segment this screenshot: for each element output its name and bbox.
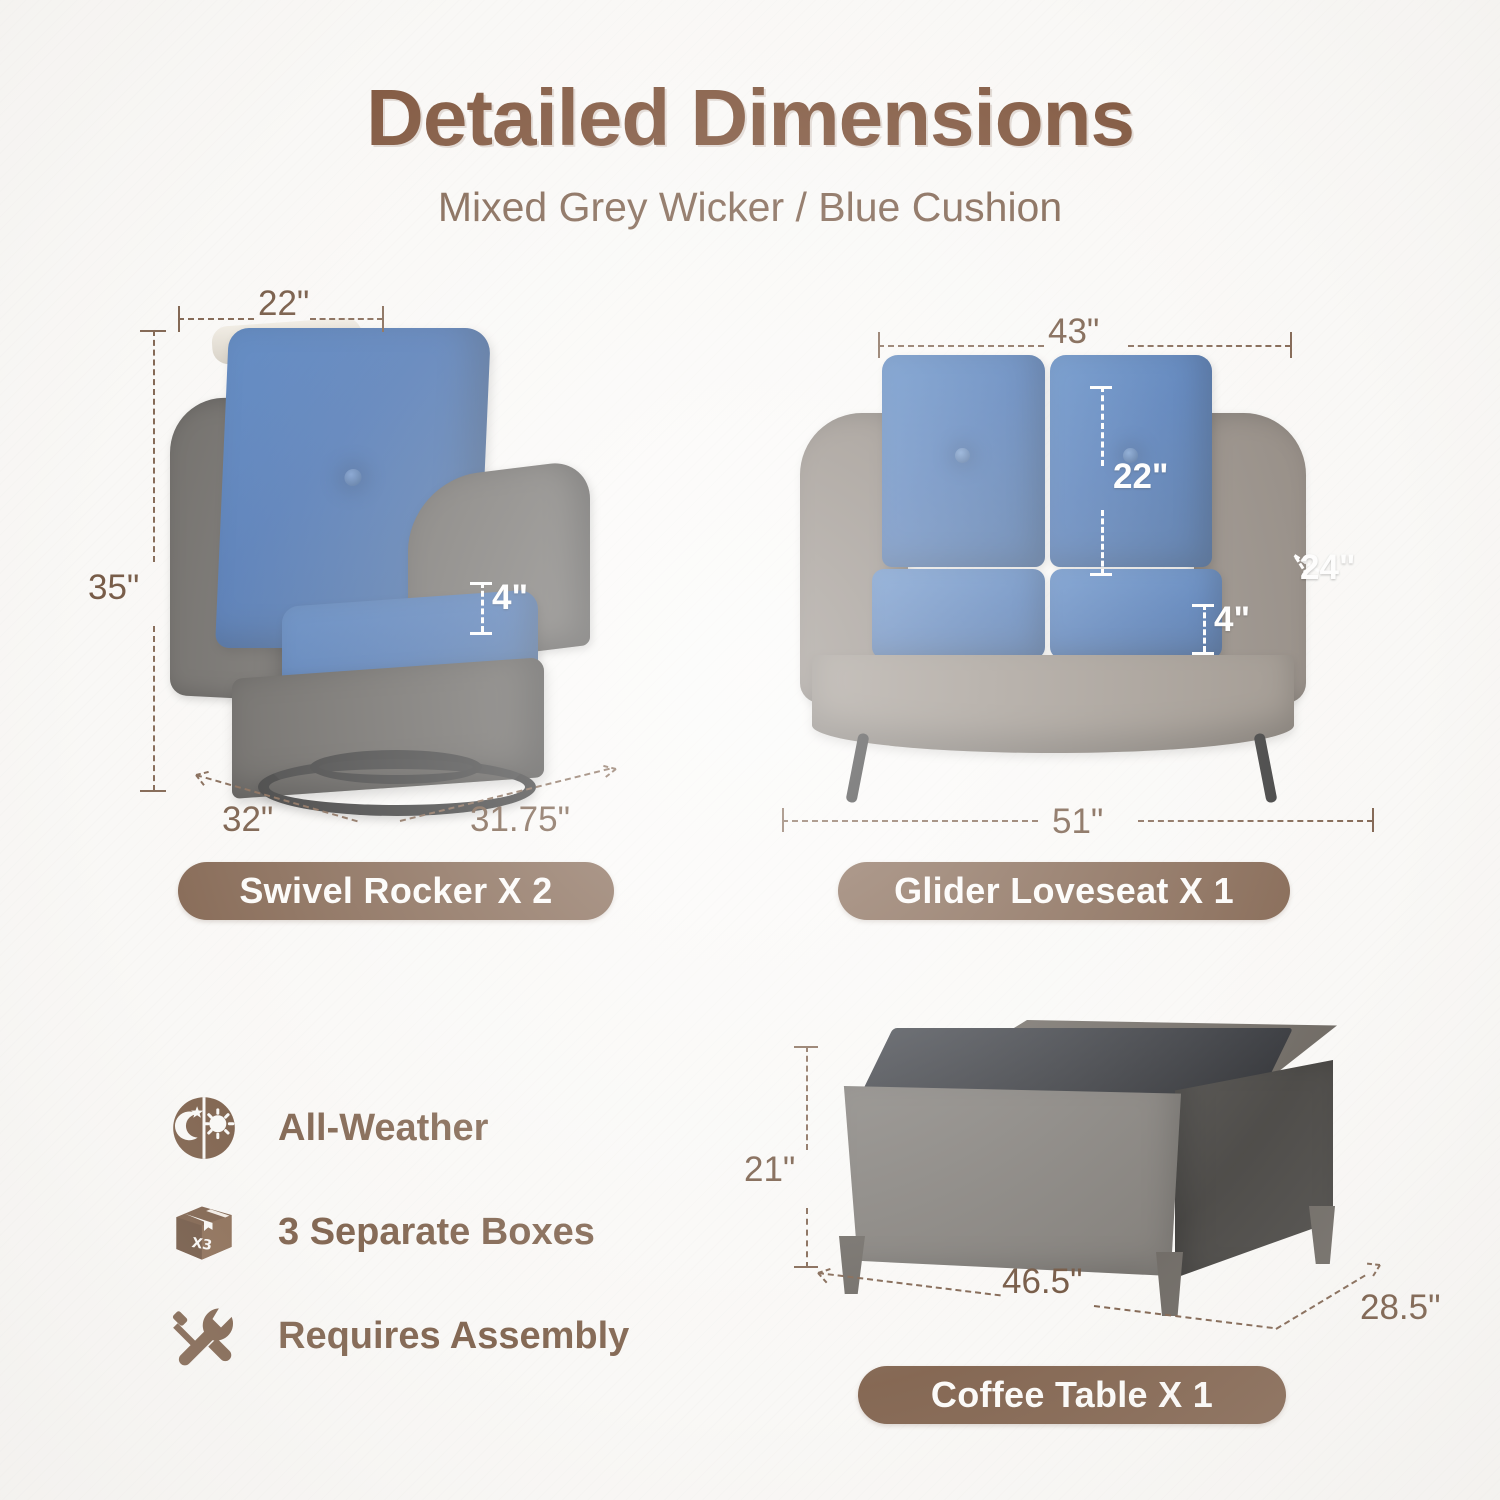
loveseat-backheight-value: 22"	[1113, 457, 1169, 497]
chair-width-value: 22"	[258, 284, 309, 324]
chair-cushion-line	[481, 582, 484, 632]
loveseat-width-line-left	[782, 820, 1038, 822]
loveseat-cushion-line	[1203, 604, 1206, 652]
table-leg-back-right	[1309, 1206, 1335, 1264]
feature-label: 3 Separate Boxes	[278, 1211, 595, 1254]
table-depth-arrowhead-a	[1372, 1264, 1381, 1276]
loveseat-leg-left	[845, 733, 869, 804]
wrench-screwdriver-icon	[168, 1300, 240, 1372]
loveseat-backwidth-line-left	[878, 345, 1044, 347]
loveseat-width-line-right	[1138, 820, 1373, 822]
table-front-panel	[837, 1086, 1181, 1276]
swivel-rocker-illustration	[170, 320, 600, 790]
loveseat-width-value: 51"	[1052, 802, 1103, 842]
loveseat-cushion-value: 4"	[1214, 600, 1250, 640]
table-length-value: 46.5"	[1002, 1262, 1083, 1302]
svg-text:X3: X3	[191, 1235, 214, 1254]
label-pill-glider-loveseat[interactable]: Glider Loveseat X 1	[838, 862, 1290, 920]
chair-cushion-cap-bottom	[470, 632, 492, 635]
loveseat-backheight-line-top	[1101, 386, 1104, 466]
loveseat-front-apron	[812, 655, 1294, 753]
loveseat-backwidth-value: 43"	[1048, 312, 1099, 352]
loveseat-back-cushion-left	[882, 355, 1045, 567]
label-pill-coffee-table[interactable]: Coffee Table X 1	[858, 1366, 1286, 1424]
feature-separate-boxes: X3 3 Separate Boxes	[168, 1196, 595, 1268]
table-height-line-top	[806, 1046, 808, 1150]
feature-requires-assembly: Requires Assembly	[168, 1300, 629, 1372]
feature-all-weather: All-Weather	[168, 1092, 488, 1164]
box-x3-icon: X3	[168, 1196, 240, 1268]
table-leg-front-right	[1153, 1252, 1183, 1316]
loveseat-cushion-cap-bottom	[1192, 652, 1214, 655]
page-title: Detailed Dimensions	[0, 78, 1500, 158]
coffee-table-illustration	[815, 1020, 1360, 1320]
chair-width-line-right	[310, 318, 383, 320]
chair-height-line-top	[153, 330, 155, 562]
table-side-panel	[1175, 1060, 1333, 1278]
loveseat-backheight-cap-bottom	[1090, 573, 1112, 576]
label-pill-swivel-rocker[interactable]: Swivel Rocker X 2	[178, 862, 614, 920]
loveseat-backheight-cap-top	[1090, 386, 1112, 389]
loveseat-seat-cushion-left	[872, 569, 1045, 659]
page-subtitle: Mixed Grey Wicker / Blue Cushion	[0, 184, 1500, 231]
glider-loveseat-illustration	[790, 355, 1330, 805]
loveseat-seatdepth-value: 24"	[1300, 548, 1356, 588]
table-height-value: 21"	[744, 1150, 795, 1190]
chair-width-line-left	[178, 318, 254, 320]
page-header: Detailed Dimensions Mixed Grey Wicker / …	[0, 78, 1500, 231]
chair-cushion-value: 4"	[492, 578, 528, 618]
chair-height-line-bottom	[153, 626, 155, 791]
chair-swivel-inner-ring	[310, 750, 482, 784]
chair-height-value: 35"	[88, 568, 139, 608]
loveseat-backwidth-line-right	[1128, 345, 1291, 347]
day-night-icon	[168, 1092, 240, 1164]
loveseat-leg-right	[1253, 733, 1277, 804]
loveseat-seat-cushion-right	[1050, 569, 1223, 659]
table-leg-front-left	[839, 1236, 865, 1294]
loveseat-backheight-line-bottom	[1101, 510, 1104, 575]
loveseat-seat-cushions	[872, 569, 1222, 659]
table-height-line-bottom	[806, 1208, 808, 1268]
chair-depth-left-value: 32"	[222, 800, 273, 840]
chair-depth-right-value: 31.75"	[470, 800, 570, 840]
table-depth-value: 28.5"	[1360, 1288, 1441, 1328]
feature-label: Requires Assembly	[278, 1315, 629, 1358]
feature-label: All-Weather	[278, 1107, 488, 1150]
table-depth-arrowhead-b	[1367, 1263, 1380, 1266]
